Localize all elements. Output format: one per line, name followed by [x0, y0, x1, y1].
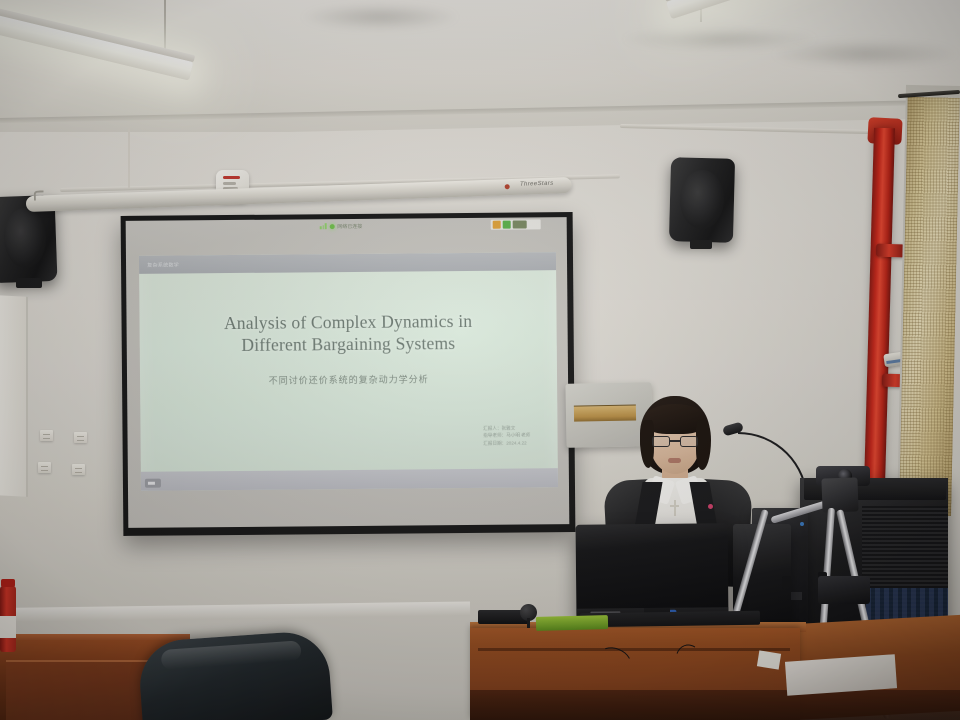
speaker-bracket-right [690, 240, 712, 249]
ceiling-stain [770, 40, 960, 68]
classroom-presentation-photo: ThreeStars 网络已连接 复杂系统数学 Analy [0, 0, 960, 720]
paper-scrap[interactable] [757, 650, 781, 669]
chair-highlight [160, 640, 302, 670]
wall-outlet-3[interactable] [38, 462, 51, 473]
detector-slot [223, 182, 236, 185]
standpipe-collar [876, 244, 905, 258]
wall-conduit-drop [128, 128, 130, 188]
user-icon[interactable] [492, 221, 500, 229]
hair-side-right [696, 420, 711, 470]
wall-outlet-2[interactable] [74, 432, 87, 443]
bottle-cap [1, 579, 15, 587]
bottle-label [0, 616, 16, 638]
slide-taskbar [141, 469, 558, 491]
windows-start-tile-icon[interactable] [145, 479, 161, 488]
leather-chair[interactable] [137, 629, 333, 720]
podium-shadow-base [470, 690, 960, 720]
eyeglasses-icon [652, 436, 698, 447]
slide-header-text: 复杂系统数学 [147, 261, 179, 268]
slide-title-line-2: Different Bargaining Systems [140, 332, 557, 358]
speaker-cone [679, 169, 724, 229]
ime-icon[interactable] [512, 221, 526, 229]
projected-status-text: 网络已连接 [337, 223, 362, 230]
tripod-accessory-mount [818, 576, 870, 604]
eyeglass-lens-left [652, 436, 670, 447]
slide-meta-advisor: 指导老师：马小明 老师 [483, 432, 530, 440]
lapel-pin [708, 504, 713, 509]
slide-meta-block: 汇报人：张雅文 指导老师：马小明 老师 汇报日期：2024.4.22 [483, 424, 530, 447]
projected-slide: 复杂系统数学 Analysis of Complex Dynamics in D… [139, 252, 558, 490]
wall-outlet-1[interactable] [40, 430, 53, 441]
projected-status-indicator: 网络已连接 [320, 223, 363, 230]
roller-brand-label: ThreeStars [520, 181, 554, 188]
ceiling-stain [300, 4, 460, 30]
roller-logo-dot-icon [505, 184, 510, 189]
slide-title: Analysis of Complex Dynamics in Differen… [140, 309, 557, 358]
slide-subtitle: 不同讨价还价系统的复杂动力学分析 [140, 371, 557, 388]
speaker-cone [3, 207, 47, 269]
woven-window-blind[interactable] [899, 97, 960, 516]
roller-hook-icon [34, 190, 44, 200]
projected-system-tray[interactable] [490, 220, 540, 230]
wall-outlet-4[interactable] [72, 464, 85, 475]
slide-header-bar: 复杂系统数学 [139, 252, 556, 273]
connected-dot-icon [329, 224, 334, 229]
mouth [668, 458, 681, 463]
speaker-bracket-left [16, 278, 42, 288]
slide-meta-date: 汇报日期：2024.4.22 [483, 439, 530, 447]
eyeglass-lens-right [680, 436, 698, 447]
projection-screen: 网络已连接 复杂系统数学 Analysis of Complex Dynamic… [121, 212, 576, 536]
tripod-clamp[interactable] [782, 576, 791, 589]
signal-bars-icon [320, 223, 327, 229]
cross-necklace [670, 500, 679, 516]
green-cloth [536, 615, 608, 631]
download-icon[interactable] [502, 221, 510, 229]
window-frame [897, 85, 960, 516]
pc-power-led-icon [800, 522, 804, 526]
detector-indicator-light [223, 176, 240, 179]
beverage-bottle[interactable] [0, 586, 16, 652]
door-frame-left [0, 295, 28, 497]
desktop-monitor [576, 523, 729, 620]
projection-screen-surface: 网络已连接 复杂系统数学 Analysis of Complex Dynamic… [126, 217, 570, 528]
eyeglass-bridge [670, 440, 680, 442]
desk-microphone-stem [527, 618, 530, 628]
podium-trim [478, 648, 790, 651]
wall-speaker-right [669, 157, 735, 243]
tripod-head[interactable] [821, 477, 858, 512]
